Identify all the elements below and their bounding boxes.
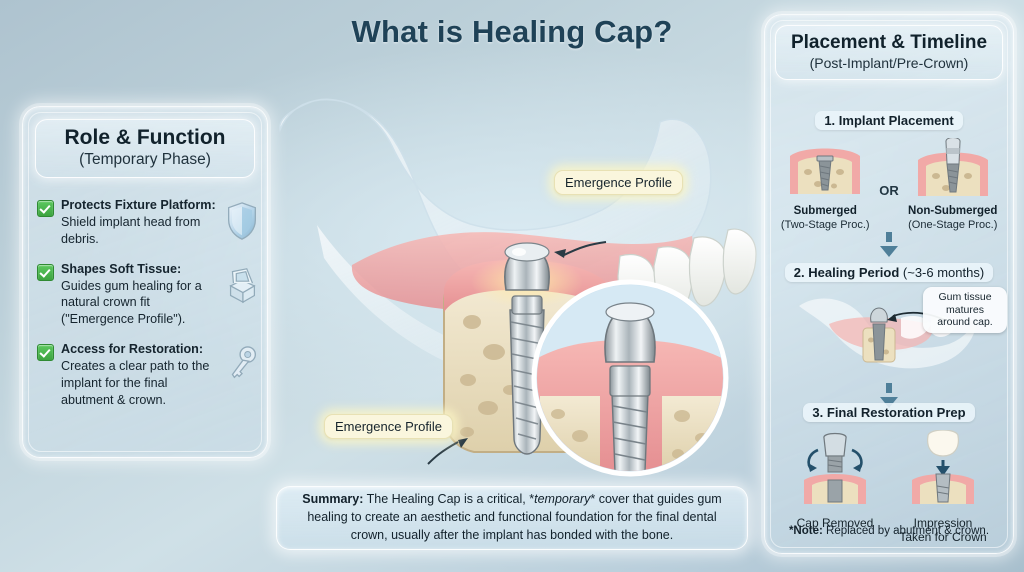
summary-text: Summary: The Healing Cap is a critical, … xyxy=(293,491,731,544)
emergence-profile-tag-bottom: Emergence Profile xyxy=(324,414,453,439)
option-submerged: Submerged (Two-Stage Proc.) xyxy=(779,138,871,232)
option-non-submerged: Non-Submerged (One-Stage Proc.) xyxy=(907,138,999,232)
green-check-icon xyxy=(37,344,54,361)
green-check-icon xyxy=(37,200,54,217)
step-1-options: Submerged (Two-Stage Proc.) OR Non-Subm xyxy=(765,138,1013,232)
item-cap-removed: Cap Removed xyxy=(789,430,881,531)
key-icon xyxy=(225,345,259,385)
left-panel-subheading: (Temporary Phase) xyxy=(40,151,250,170)
bullet-lead: Access for Restoration: xyxy=(61,342,203,356)
emergence-profile-tag-top: Emergence Profile xyxy=(554,170,683,195)
non-submerged-implant-icon xyxy=(910,138,996,200)
right-panel-heading: Placement & Timeline xyxy=(780,33,998,54)
bullet-body: Shield implant head from debris. xyxy=(61,215,200,246)
step-3-label: 3. Final Restoration Prep xyxy=(803,403,974,422)
timeline-step-2: 2. Healing Period (~3-6 months) xyxy=(765,263,1013,408)
list-item: Access for Restoration: Creates a clear … xyxy=(37,341,257,409)
flow-arrow-stem xyxy=(886,232,892,242)
option-non-submerged-name: Non-Submerged xyxy=(907,205,999,219)
bullet-lead: Protects Fixture Platform: xyxy=(61,198,216,212)
role-and-function-panel: Role & Function (Temporary Phase) Protec… xyxy=(22,106,268,458)
green-check-icon xyxy=(37,264,54,281)
infographic-canvas: What is Healing Cap? Role & Function (Te… xyxy=(0,0,1024,572)
step-2-label-duration: (~3-6 months) xyxy=(899,265,984,280)
flow-arrow-1 xyxy=(880,246,898,257)
bullet-body: Guides gum healing for a natural crown f… xyxy=(61,279,202,327)
step-2-label-bold: 2. Healing Period xyxy=(794,265,899,280)
cap-removal-icon xyxy=(790,430,880,510)
left-panel-header: Role & Function (Temporary Phase) xyxy=(35,119,255,178)
list-item: Shapes Soft Tissue: Guides gum healing f… xyxy=(37,261,257,329)
open-box-icon xyxy=(225,265,259,305)
option-submerged-detail: (Two-Stage Proc.) xyxy=(779,219,871,232)
role-bullet-list: Protects Fixture Platform: Shield implan… xyxy=(37,197,257,422)
note-text: Replaced by abutment & crown. xyxy=(823,525,989,537)
submerged-implant-icon xyxy=(782,138,868,200)
list-item: Protects Fixture Platform: Shield implan… xyxy=(37,197,257,248)
summary-part1: The Healing Cap is a critical, * xyxy=(363,492,534,506)
option-submerged-name: Submerged xyxy=(779,205,871,219)
timeline-step-1: 1. Implant Placement Submerged (Two-Stag… xyxy=(765,111,1013,257)
note-bold: *Note: xyxy=(789,525,823,537)
gum-tissue-callout: Gum tissue matures around cap. xyxy=(923,287,1007,333)
summary-box: Summary: The Healing Cap is a critical, … xyxy=(276,486,748,550)
placement-timeline-panel: Placement & Timeline (Post-Implant/Pre-C… xyxy=(764,14,1014,554)
or-label: OR xyxy=(879,183,899,232)
option-non-submerged-detail: (One-Stage Proc.) xyxy=(907,219,999,232)
summary-emphasis: temporary xyxy=(534,492,590,506)
replacement-note: *Note: Replaced by abutment & crown. xyxy=(773,525,1005,537)
bullet-body: Creates a clear path to the implant for … xyxy=(61,359,209,407)
flow-arrow-stem-2 xyxy=(886,383,892,393)
step-2-label: 2. Healing Period (~3-6 months) xyxy=(785,263,993,282)
step-1-label: 1. Implant Placement xyxy=(815,111,962,130)
summary-lead: Summary: xyxy=(302,492,363,506)
bullet-lead: Shapes Soft Tissue: xyxy=(61,262,181,276)
crown-impression-icon xyxy=(898,430,988,510)
left-panel-heading: Role & Function xyxy=(40,127,250,150)
shield-icon xyxy=(225,201,259,241)
right-panel-subheading: (Post-Implant/Pre-Crown) xyxy=(780,55,998,72)
right-panel-header: Placement & Timeline (Post-Implant/Pre-C… xyxy=(775,25,1003,80)
timeline-step-3: 3. Final Restoration Prep xyxy=(765,403,1013,545)
